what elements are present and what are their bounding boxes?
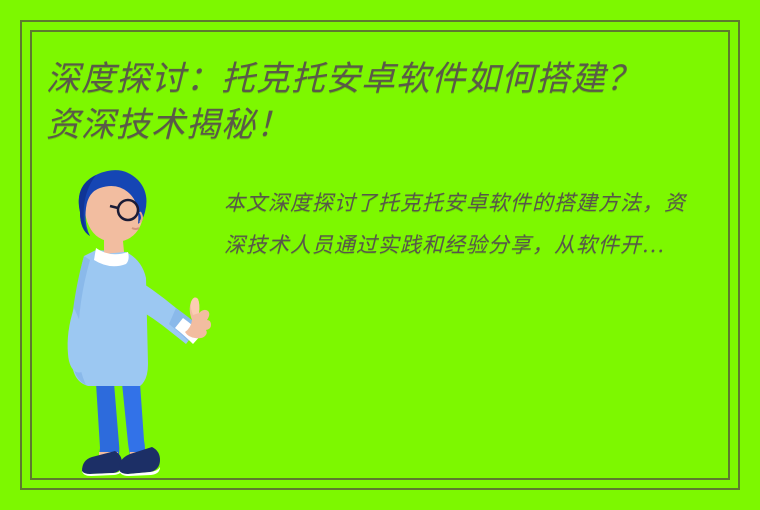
mouth	[132, 228, 139, 229]
leg-near	[122, 383, 145, 458]
shoe-near	[119, 447, 160, 474]
page-title: 深度探讨：托克托安卓软件如何搭建？ 资深技术揭秘！	[46, 56, 726, 148]
article-summary: 本文深度探讨了托克托安卓软件的搭建方法，资深技术人员通过实践和经验分享，从软件开…	[224, 182, 694, 266]
shoe-far	[82, 451, 122, 474]
article-card: 深度探讨：托克托安卓软件如何搭建？ 资深技术揭秘！ 本文深度探讨了托克托安卓软件…	[0, 0, 760, 510]
person-illustration-svg	[52, 168, 222, 480]
leg-far	[96, 383, 119, 460]
person-pointing-illustration	[52, 168, 222, 480]
index-finger	[191, 298, 200, 315]
